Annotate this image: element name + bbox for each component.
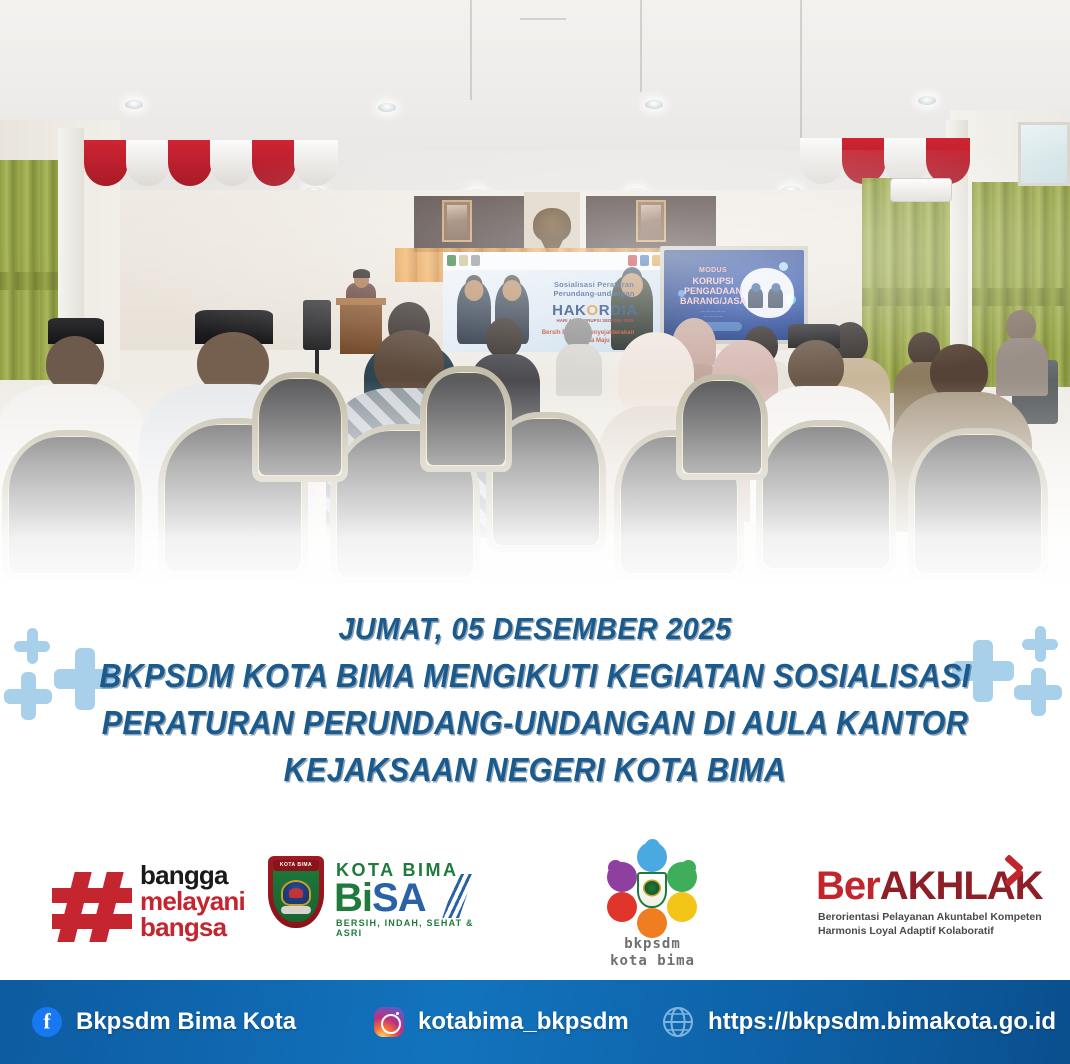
facebook-icon[interactable] xyxy=(32,1007,62,1037)
podium xyxy=(340,302,382,354)
banner-title: Sosialisasi Peraturan Perundang-undangan xyxy=(531,280,657,298)
kota-bima-crest: KOTA BIMA xyxy=(268,856,324,928)
bisa-tagline: BERSIH, INDAH, SEHAT & ASRI xyxy=(336,918,483,938)
headline-date: JUMAT, 05 DESEMBER 2025 xyxy=(43,605,1027,652)
event-backdrop-banner: Sosialisasi Peraturan Perundang-undangan… xyxy=(443,252,665,352)
chair xyxy=(2,430,142,580)
slide-subtext: — — — — —— — — — xyxy=(672,308,754,318)
berakhlak-tagline-2: Harmonis Loyal Adaptif Kolaboratif xyxy=(818,924,1042,938)
logo-berakhlak: BerAKHLAK Berorientasi Pelayanan Akuntab… xyxy=(808,848,1048,948)
bkpsdm-line-1: bkpsdm xyxy=(575,936,730,953)
facebook-contact[interactable]: Bkpsdm Bima Kota xyxy=(32,1007,296,1037)
chair xyxy=(252,372,348,482)
arrow-icon xyxy=(1004,856,1030,886)
bisa-wordmark: BiSA xyxy=(334,878,426,918)
bangga-line-2: melayani xyxy=(140,888,245,914)
headline-line-2: PERATURAN PERUNDANG-UNDANGAN DI AULA KAN… xyxy=(43,699,1027,746)
logo-row: bangga melayani bangsa KOTA BIMA KOTA BI… xyxy=(0,838,1070,978)
curtain-left xyxy=(0,160,58,380)
crest-banner-text: KOTA BIMA xyxy=(273,860,319,871)
banner-logo-strip xyxy=(447,255,480,266)
website-url: https://bkpsdm.bimakota.go.id xyxy=(708,1008,1056,1036)
chair xyxy=(676,374,768,480)
chair xyxy=(908,428,1048,580)
globe-icon[interactable] xyxy=(662,1006,694,1038)
facebook-handle: Bkpsdm Bima Kota xyxy=(76,1008,296,1036)
instagram-handle: kotabima_bkpsdm xyxy=(418,1008,629,1036)
banner-event-name: HAKORDIA xyxy=(535,302,655,319)
banner-event-sub: HARI ANTI KORUPSI SEDUNIA 2025 xyxy=(535,318,655,323)
bkpsdm-line-2: kota bima xyxy=(575,953,730,970)
president-portrait xyxy=(442,200,472,242)
bangga-line-3: bangsa xyxy=(140,914,245,940)
ceiling-light xyxy=(645,100,663,109)
event-photo: Sosialisasi Peraturan Perundang-undangan… xyxy=(0,0,1070,600)
presenter-head xyxy=(354,272,369,288)
logo-kota-bima-bisa: KOTA BIMA KOTA BIMA BiSA BERSIH, INDAH, … xyxy=(258,848,483,948)
contact-footer: Bkpsdm Bima Kota kotabima_bkpsdm https:/… xyxy=(0,980,1070,1064)
instagram-contact[interactable]: kotabima_bkpsdm xyxy=(374,1007,629,1037)
bkpsdm-wordmark: bkpsdm kota bima xyxy=(575,936,730,970)
instagram-icon[interactable] xyxy=(374,1007,404,1037)
slide-title: KORUPSI PENGADAAN BARANG/JASA xyxy=(670,276,756,306)
berakhlak-tagline-1: Berorientasi Pelayanan Akuntabel Kompete… xyxy=(818,910,1042,924)
bangga-wordmark: bangga melayani bangsa xyxy=(140,862,245,940)
ceiling-light xyxy=(918,96,936,105)
logo-bangga-melayani-bangsa: bangga melayani bangsa xyxy=(20,846,250,956)
chair xyxy=(756,420,896,575)
website-contact[interactable]: https://bkpsdm.bimakota.go.id xyxy=(662,1006,1056,1038)
air-conditioner xyxy=(890,178,952,202)
headline-line-3: KEJAKSAAN NEGERI KOTA BIMA xyxy=(43,746,1027,793)
ceiling-light xyxy=(378,103,396,112)
berakhlak-tagline: Berorientasi Pelayanan Akuntabel Kompete… xyxy=(818,910,1042,938)
wall-panel xyxy=(414,196,534,252)
pa-speaker xyxy=(303,300,331,350)
hash-icon xyxy=(50,866,136,942)
bkpsdm-people-icon xyxy=(603,842,701,936)
logo-bkpsdm: bkpsdm kota bima xyxy=(575,840,730,976)
window xyxy=(1018,122,1070,186)
slide-line1: MODUS xyxy=(674,267,752,274)
chair xyxy=(420,366,512,472)
bangga-line-1: bangga xyxy=(140,862,245,888)
headline-block: JUMAT, 05 DESEMBER 2025 BKPSDM KOTA BIMA… xyxy=(0,605,1070,793)
ceiling-light xyxy=(125,100,143,109)
headline-line-1: BKPSDM KOTA BIMA MENGIKUTI KEGIATAN SOSI… xyxy=(43,652,1027,699)
vice-president-portrait xyxy=(636,200,666,242)
bunting-left xyxy=(84,140,354,186)
